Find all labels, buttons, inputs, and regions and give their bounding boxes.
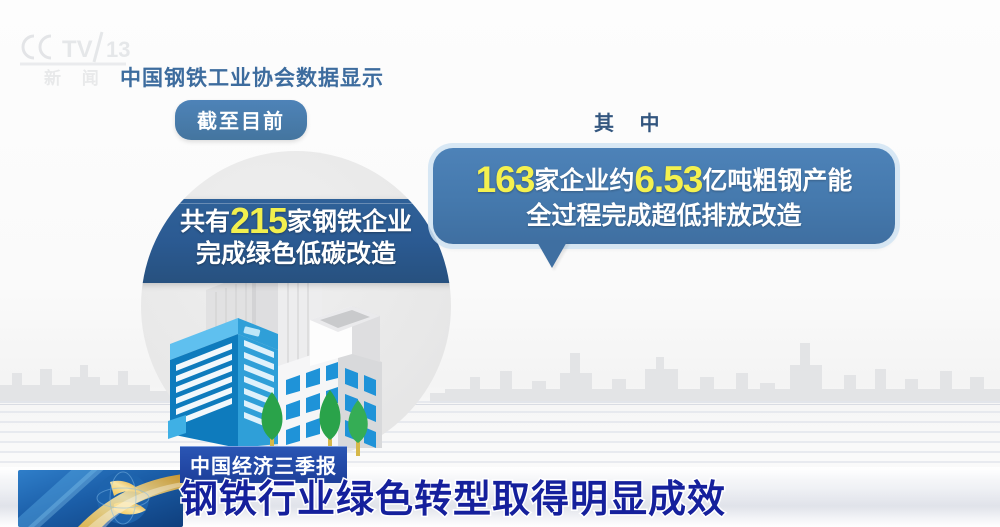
source-headline: 中国钢铁工业协会数据显示 (120, 62, 420, 92)
right-stat-bubble: 163家企业约6.53亿吨粗钢产能 全过程完成超低排放改造 (433, 148, 895, 244)
svg-text:新 闻: 新 闻 (44, 68, 107, 88)
left-stat-band (141, 151, 451, 461)
right-stat-line2: 全过程完成超低排放改造 (433, 200, 895, 232)
among-which-label: 其 中 (594, 107, 670, 136)
news-globe-graphic-icon (18, 470, 183, 527)
right-stat-line1-suffix: 亿吨粗钢产能 (702, 167, 852, 195)
svg-text:13: 13 (106, 37, 130, 62)
bubble-tail-icon (536, 240, 568, 268)
right-stat-line1-mid: 家企业约 (534, 167, 634, 195)
background-stripes (0, 401, 1000, 469)
divider-line-upper (0, 404, 1000, 405)
as-of-pill: 截至目前 (175, 100, 307, 140)
svg-text:TV: TV (62, 36, 93, 63)
right-stat-number-1: 163 (476, 159, 535, 200)
footer-headline: 钢铁行业绿色转型取得明显成效 (180, 477, 726, 523)
broadcast-graphic-stage: 共有215家钢铁企业 完成绿色低碳改造 TV 13 新 闻 中国钢铁工业协会数据… (0, 0, 1000, 527)
right-stat-number-2: 6.53 (634, 159, 702, 200)
